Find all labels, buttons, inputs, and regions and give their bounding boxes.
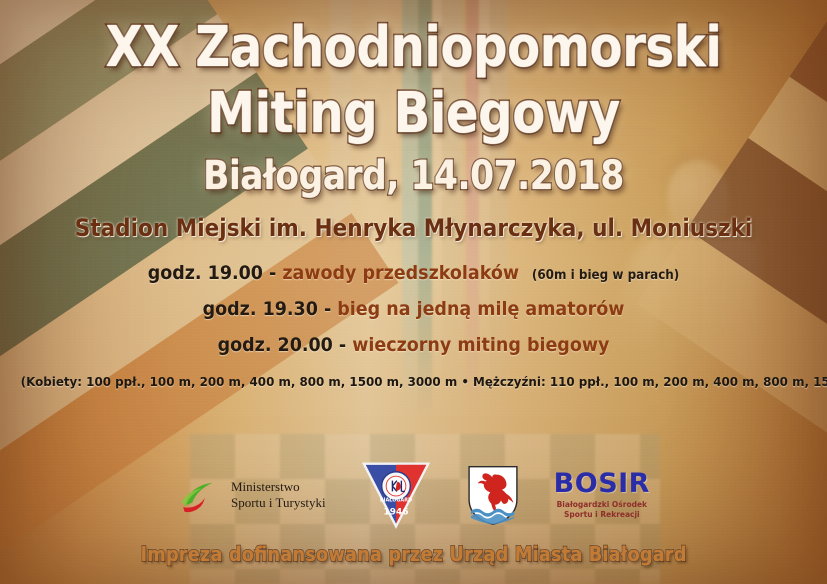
schedule-time: godz. 19.30 -: [203, 298, 338, 320]
schedule-time: godz. 19.00 -: [148, 262, 283, 284]
schedule-note: (60m i bieg w parach): [519, 268, 679, 283]
poster-title-line-1: XX Zachodniopomorski: [58, 0, 769, 76]
events-detail-line: (Kobiety: 100 ppł., 100 m, 200 m, 400 m,…: [21, 372, 807, 389]
ministry-swoosh-icon: [177, 472, 223, 518]
ministry-logo-text: Ministerstwo Sportu i Turystyki: [231, 479, 326, 512]
ministry-logo-line-1: Ministerstwo: [231, 479, 326, 495]
schedule-time: godz. 20.00 -: [218, 334, 353, 356]
bosir-subtitle: Białogardzki Ośrodek Sportu i Rekreacji: [554, 497, 650, 520]
schedule-event: wieczorny miting biegowy: [352, 334, 609, 356]
bosir-subtitle-line-1: Białogardzki Ośrodek: [554, 500, 650, 510]
poster-canvas: XX Zachodniopomorski Miting Biegowy Biał…: [0, 0, 827, 584]
schedule-row: godz. 19.00 - zawody przedszkolaków(60m …: [33, 264, 794, 300]
bosir-wordmark: BOSIR: [554, 470, 650, 497]
poster-title-line-3-date: Białogard, 14.07.2018: [58, 142, 769, 196]
schedule-row: godz. 19.30 - bieg na jedną milę amatoró…: [33, 300, 794, 336]
svg-text:1946: 1946: [383, 508, 408, 518]
sponsor-logo-row: Ministerstwo Sportu i Turystyki BIAŁOGAR…: [0, 455, 827, 535]
poster-title-line-2: Miting Biegowy: [58, 76, 769, 142]
bosir-logo: BOSIR Białogardzki Ośrodek Sportu i Rekr…: [554, 470, 650, 520]
svg-text:BIAŁOGARD: BIAŁOGARD: [380, 497, 412, 503]
club-pennant-badge: BIAŁOGARD 1946: [360, 461, 432, 529]
schedule-event: zawody przedszkolaków: [282, 262, 519, 284]
venue-line: Stadion Miejski im. Henryka Młynarczyka,…: [41, 196, 785, 242]
ministry-logo-line-2: Sportu i Turystyki: [231, 495, 326, 511]
bosir-subtitle-line-2: Sportu i Rekreacji: [554, 510, 650, 520]
bialogard-coat-of-arms: [466, 464, 520, 526]
poster-content: XX Zachodniopomorski Miting Biegowy Biał…: [0, 0, 827, 584]
schedule-row: godz. 20.00 - wieczorny miting biegowy: [33, 336, 794, 372]
schedule-event: bieg na jedną milę amatorów: [337, 298, 624, 320]
ministry-of-sport-logo: Ministerstwo Sportu i Turystyki: [177, 472, 326, 518]
schedule-list: godz. 19.00 - zawody przedszkolaków(60m …: [0, 242, 827, 372]
footer-funding-note: Impreza dofinansowana przez Urząd Miasta…: [41, 542, 785, 566]
